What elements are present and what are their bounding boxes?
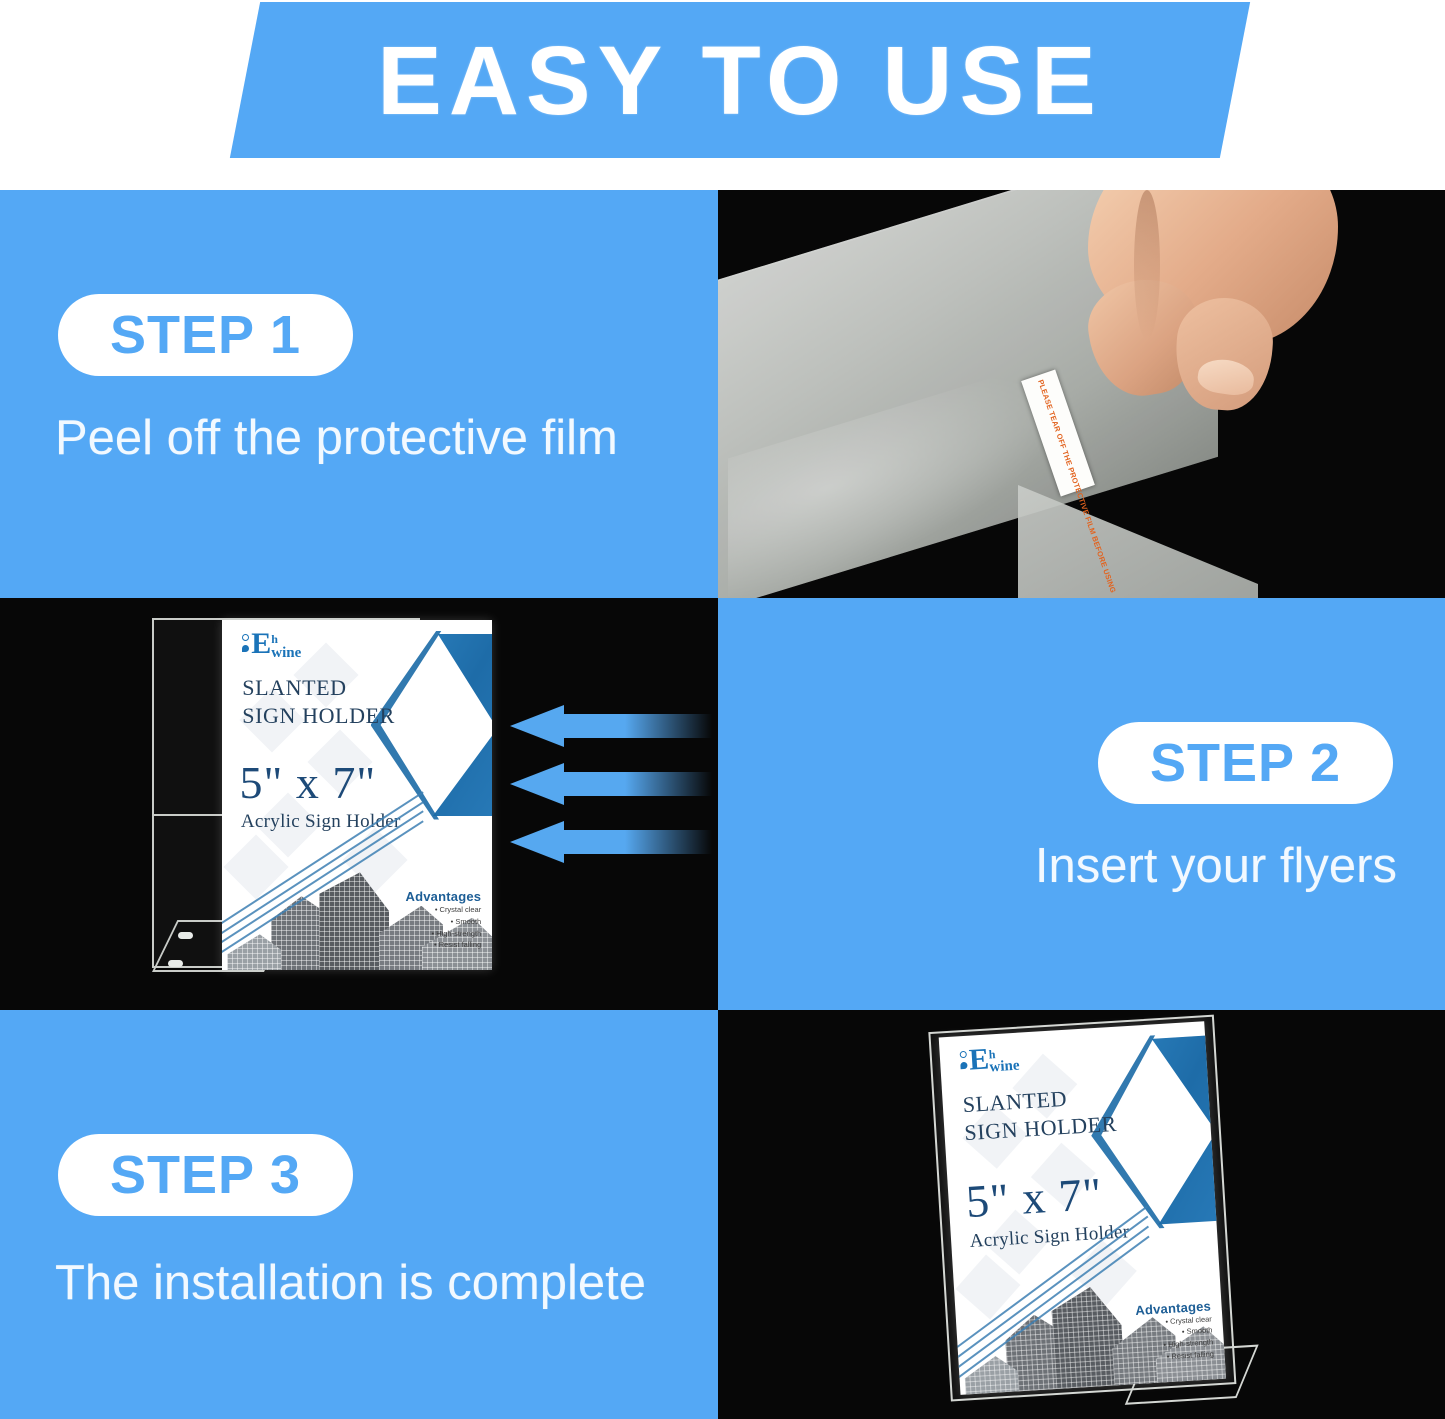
step-3-badge: STEP 3: [58, 1134, 353, 1216]
logo-letter-e: E: [251, 632, 270, 657]
flyer-advantage-item: • Resist falling: [406, 939, 482, 951]
header-area: EASY TO USE: [0, 0, 1445, 190]
step-1-badge: STEP 1: [58, 294, 353, 376]
step-3-photo-panel: E h wine SLANTED SIGN HOLDER 5" x 7" Acr…: [718, 1010, 1445, 1419]
page-title: EASY TO USE: [245, 2, 1235, 158]
flyer-subtitle: Acrylic Sign Holder: [241, 811, 401, 833]
left-arrow-icon: [510, 763, 564, 805]
flyer-advantages: Advantages • Crystal clear • Smooth • Hi…: [406, 889, 482, 951]
flyer-artwork: E h wine SLANTED SIGN HOLDER 5" x 7" Acr…: [222, 620, 492, 970]
logo-word-wine: wine: [271, 646, 301, 661]
arrow-tail: [562, 830, 712, 854]
step-1-text-panel: [0, 190, 718, 598]
logo-letter-h: h: [271, 634, 301, 645]
holder-base-slot: [178, 932, 193, 939]
arrow-tail: [562, 714, 712, 738]
hand-graphic: [1048, 190, 1378, 450]
step-1-photo-panel: PLEASE TEAR OFF THE PROTECTIVE FILM BEFO…: [718, 190, 1445, 598]
flyer-advantage-item: • Smooth: [406, 916, 482, 928]
flyer-size-text: 5" x 7": [240, 760, 377, 806]
logo-dot-icon: [242, 634, 250, 656]
left-arrow-icon: [510, 705, 564, 747]
step-2-caption: Insert your flyers: [1035, 838, 1397, 894]
step-1-caption: Peel off the protective film: [55, 410, 618, 466]
step-3-caption: The installation is complete: [55, 1255, 646, 1311]
flyer-size-text: 5" x 7": [965, 1171, 1104, 1225]
step-2-text-panel: [718, 598, 1445, 1010]
flyer-artwork: E h wine SLANTED SIGN HOLDER 5" x 7" Acr…: [939, 1021, 1226, 1395]
flyer-logo: E h wine: [242, 632, 301, 661]
left-arrow-icon: [510, 821, 564, 863]
flyer-title: SLANTED SIGN HOLDER: [242, 674, 395, 729]
flyer-advantages-title: Advantages: [406, 889, 482, 904]
flyer-title: SLANTED SIGN HOLDER: [962, 1082, 1118, 1146]
acrylic-sheet-edge: [1018, 485, 1258, 598]
flyer-advantages: Advantages • Crystal clear • Smooth • Hi…: [1135, 1298, 1214, 1364]
flyer-title-line-1: SLANTED: [242, 674, 395, 702]
flyer-advantage-item: • High-strength: [406, 928, 482, 940]
holder-base-slot: [168, 960, 183, 967]
logo-letter-e: E: [968, 1047, 988, 1073]
logo-dot-icon: [959, 1050, 968, 1072]
hand-middle-finger: [1172, 295, 1276, 413]
flyer-title-line-2: SIGN HOLDER: [242, 702, 395, 730]
arrow-tail: [562, 772, 712, 796]
hand-thumb-crease: [1134, 190, 1160, 340]
assembled-sign-holder: E h wine SLANTED SIGN HOLDER 5" x 7" Acr…: [939, 1019, 1262, 1417]
flyer-logo: E h wine: [959, 1045, 1020, 1077]
step-2-badge: STEP 2: [1098, 722, 1393, 804]
flyer-advantage-item: • Crystal clear: [406, 904, 482, 916]
logo-word-wine: wine: [989, 1059, 1020, 1076]
